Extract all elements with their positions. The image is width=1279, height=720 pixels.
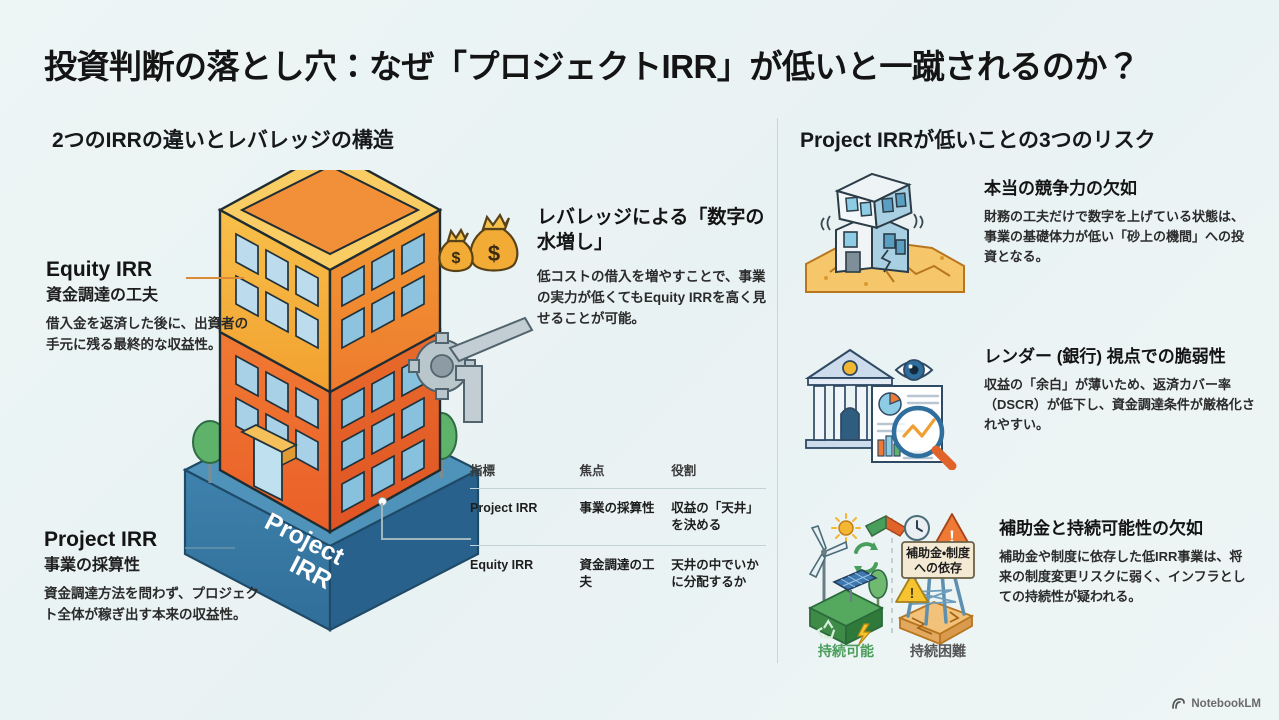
left-section-heading: 2つのIRRの違いとレバレッジの構造 — [52, 124, 394, 154]
table-row: Project IRR 事業の採算性 収益の「天井」を決める — [470, 489, 766, 546]
risk1-heading: 本当の競争力の欠如 — [984, 178, 1255, 200]
cell-metric: Equity IRR — [470, 545, 580, 601]
notebooklm-logo-icon — [1171, 697, 1186, 710]
project-leader-line — [185, 547, 235, 549]
risk-item-subsidy-sustainability: ! ! 補助金・制度 への依存 持続可能 持続困難 補助金と持続可能性の欠如 補… — [800, 512, 1255, 662]
eye-icon — [896, 360, 932, 380]
project-irr-subheading: 事業の採算性 — [44, 556, 264, 575]
sustainability-comparison-illustration: ! ! 補助金・制度 への依存 持続可能 持続困難 — [800, 512, 985, 662]
table-header-focus: 焦点 — [580, 460, 672, 489]
table-header-metric: 指標 — [470, 460, 580, 489]
cell-metric: Project IRR — [470, 489, 580, 546]
bank-analysis-illustration — [800, 340, 970, 470]
annotation-project-irr: Project IRR 事業の採算性 資金調達方法を問わず、プロジェクト全体が稼… — [44, 528, 264, 625]
leverage-body: 低コストの借入を増やすことで、事業の実力が低くてもEquity IRRを高く見せ… — [537, 267, 769, 330]
cell-role: 収益の「天井」を決める — [671, 489, 766, 546]
money-symbol-small: $ — [452, 250, 461, 267]
cell-role: 天井の中でいかに分配するか — [671, 545, 766, 601]
equity-leader-line — [186, 277, 244, 279]
page-title: 投資判断の落とし穴：なぜ「プロジェクトIRR」が低いと一蹴されるのか？ — [44, 40, 1244, 88]
irr-comparison-table: 指標 焦点 役割 Project IRR 事業の採算性 収益の「天井」を決める … — [470, 460, 766, 602]
cell-focus: 事業の採算性 — [580, 489, 672, 546]
risk3-body: 補助金や制度に依存した低IRR事業は、将来の制度変更リスクに弱く、インフラとして… — [999, 547, 1255, 607]
notebooklm-watermark: NotebookLM — [1171, 697, 1261, 710]
risk-item-competitiveness: 本当の競争力の欠如 財務の工夫だけで数字を上げている状態は、事業の基礎体力が低い… — [800, 172, 1255, 302]
equity-irr-subheading: 資金調達の工夫 — [46, 286, 256, 305]
sustainable-label: 持続可能 — [818, 643, 874, 659]
right-section-heading: Project IRRが低いことの3つのリスク — [800, 124, 1156, 154]
warn-symbol-2: ! — [910, 585, 915, 602]
risk-item-lender-view: レンダー (銀行) 視点での脆弱性 収益の「余白」が薄いため、返済カバー率（DS… — [800, 340, 1255, 470]
connector-vertical — [381, 503, 383, 539]
unsustainable-label: 持続困難 — [910, 643, 966, 659]
money-symbol-large: $ — [488, 241, 500, 266]
project-irr-body: 資金調達方法を問わず、プロジェクト全体が稼ぎ出す本来の収益性。 — [44, 584, 264, 625]
leverage-callout: レバレッジによる「数字の水増し」 低コストの借入を増やすことで、事業の実力が低く… — [537, 205, 769, 330]
vertical-divider — [777, 118, 778, 663]
leverage-heading: レバレッジによる「数字の水増し」 — [537, 205, 769, 255]
risk3-heading: 補助金と持続可能性の欠如 — [999, 518, 1255, 540]
sign-line-2: への依存 — [914, 560, 962, 575]
connector-dot — [378, 497, 387, 506]
infographic-canvas: 投資判断の落とし穴：なぜ「プロジェクトIRR」が低いと一蹴されるのか？ 2つのI… — [0, 0, 1279, 720]
cracked-ground-building-illustration — [800, 172, 970, 302]
connector-horizontal — [381, 538, 471, 540]
watermark-text: NotebookLM — [1191, 698, 1261, 710]
risk1-body: 財務の工夫だけで数字を上げている状態は、事業の基礎体力が低い「砂上の機間」への投… — [984, 207, 1255, 267]
table-header-row: 指標 焦点 役割 — [470, 460, 766, 489]
equity-irr-body: 借入金を返済した後に、出資者の手元に残る最終的な収益性。 — [46, 314, 256, 355]
table-row: Equity IRR 資金調達の工夫 天井の中でいかに分配するか — [470, 545, 766, 601]
risk2-heading: レンダー (銀行) 視点での脆弱性 — [984, 346, 1255, 368]
table-header-role: 役割 — [671, 460, 766, 489]
risk2-body: 収益の「余白」が薄いため、返済カバー率（DSCR）が低下し、資金調達条件が厳格化… — [984, 375, 1255, 435]
money-bags-icon: $ $ — [425, 205, 535, 275]
annotation-equity-irr: Equity IRR 資金調達の工夫 借入金を返済した後に、出資者の手元に残る最… — [46, 258, 256, 355]
cell-focus: 資金調達の工夫 — [580, 545, 672, 601]
sign-line-1: 補助金・制度 — [906, 545, 970, 560]
